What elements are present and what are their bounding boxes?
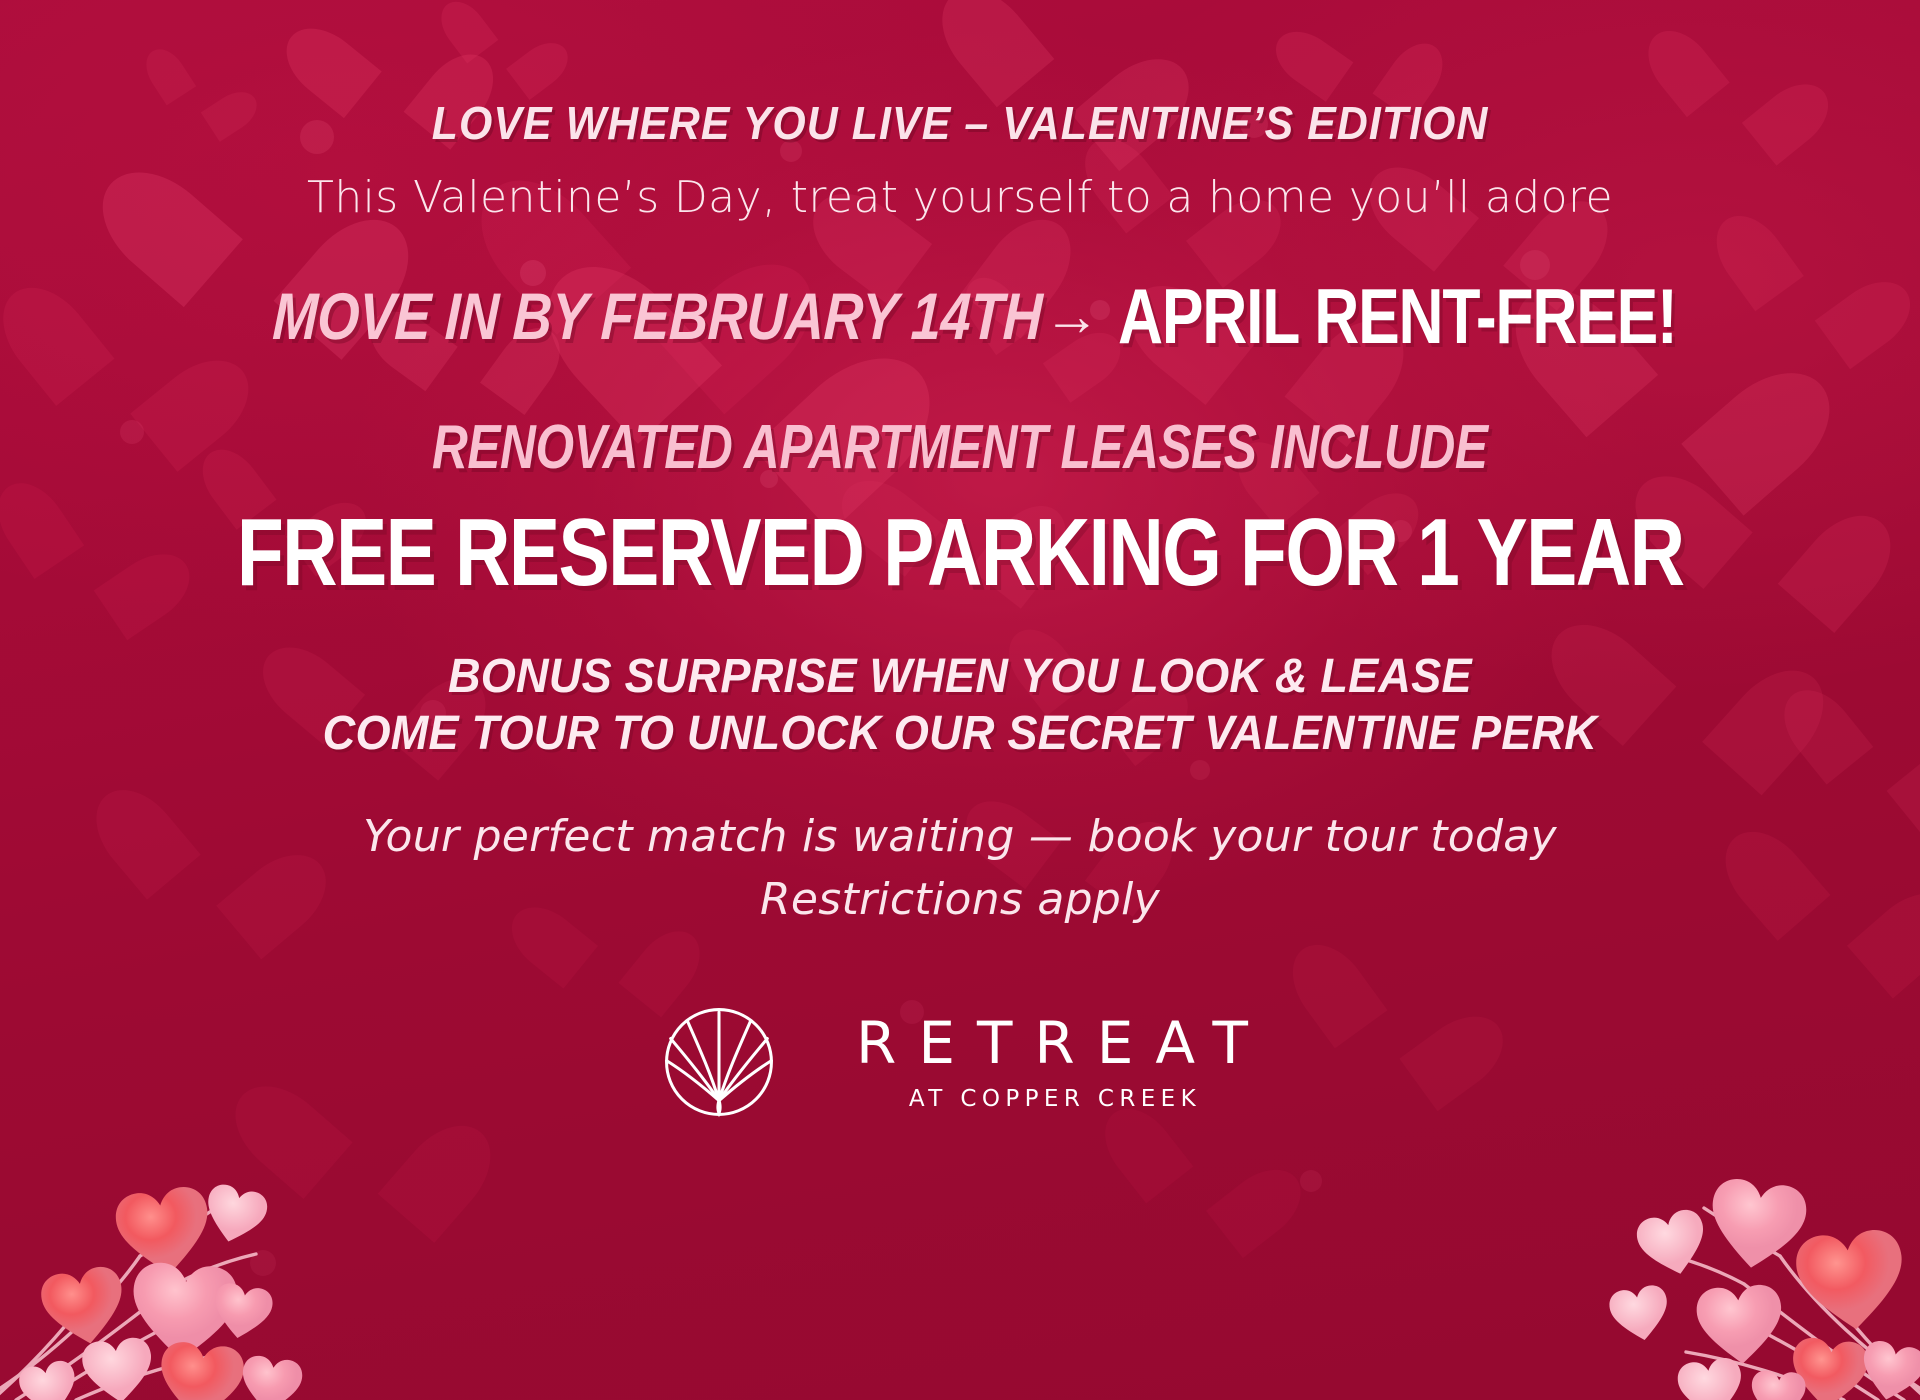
bonus-line: COME TOUR TO UNLOCK OUR SECRET VALENTINE… <box>323 706 1597 763</box>
brand-logo: RETREAT AT COPPER CREEK <box>650 993 1270 1131</box>
brand-sub-wordmark: AT COPPER CREEK <box>903 1088 1201 1111</box>
eyebrow-headline: LOVE WHERE YOU LIVE – VALENTINE’S EDITIO… <box>432 96 1489 150</box>
tagline-cta: Your perfect match is waiting — book you… <box>363 806 1557 868</box>
tagline-restrictions: Restrictions apply <box>363 869 1557 931</box>
flyer-content: LOVE WHERE YOU LIVE – VALENTINE’S EDITIO… <box>0 0 1920 1400</box>
offer-row: MOVE IN BY FEBRUARY 14TH → APRIL RENT-FR… <box>0 277 1920 355</box>
offer-condition: MOVE IN BY FEBRUARY 14TH <box>271 283 1043 349</box>
perk-headline: FREE RESERVED PARKING FOR 1 YEAR <box>237 505 1684 601</box>
arrow-right-icon: → <box>1044 288 1100 344</box>
subheadline: This Valentine’s Day, treat yourself to … <box>307 172 1613 223</box>
tagline-block: Your perfect match is waiting — book you… <box>363 806 1557 931</box>
offer-reward: APRIL RENT-FREE! <box>1118 277 1677 355</box>
bonus-line: BONUS SURPRISE WHEN YOU LOOK & LEASE <box>323 649 1597 706</box>
retreat-fan-mark-icon <box>650 993 788 1131</box>
bonus-block: BONUS SURPRISE WHEN YOU LOOK & LEASE COM… <box>282 649 1638 762</box>
brand-wordmark: RETREAT <box>834 1014 1270 1072</box>
brand-wordmark-group: RETREAT AT COPPER CREEK <box>834 1014 1270 1111</box>
valentines-promo-flyer: LOVE WHERE YOU LIVE – VALENTINE’S EDITIO… <box>0 0 1920 1400</box>
lease-includes-label: RENOVATED APARTMENT LEASES INCLUDE <box>432 417 1488 479</box>
